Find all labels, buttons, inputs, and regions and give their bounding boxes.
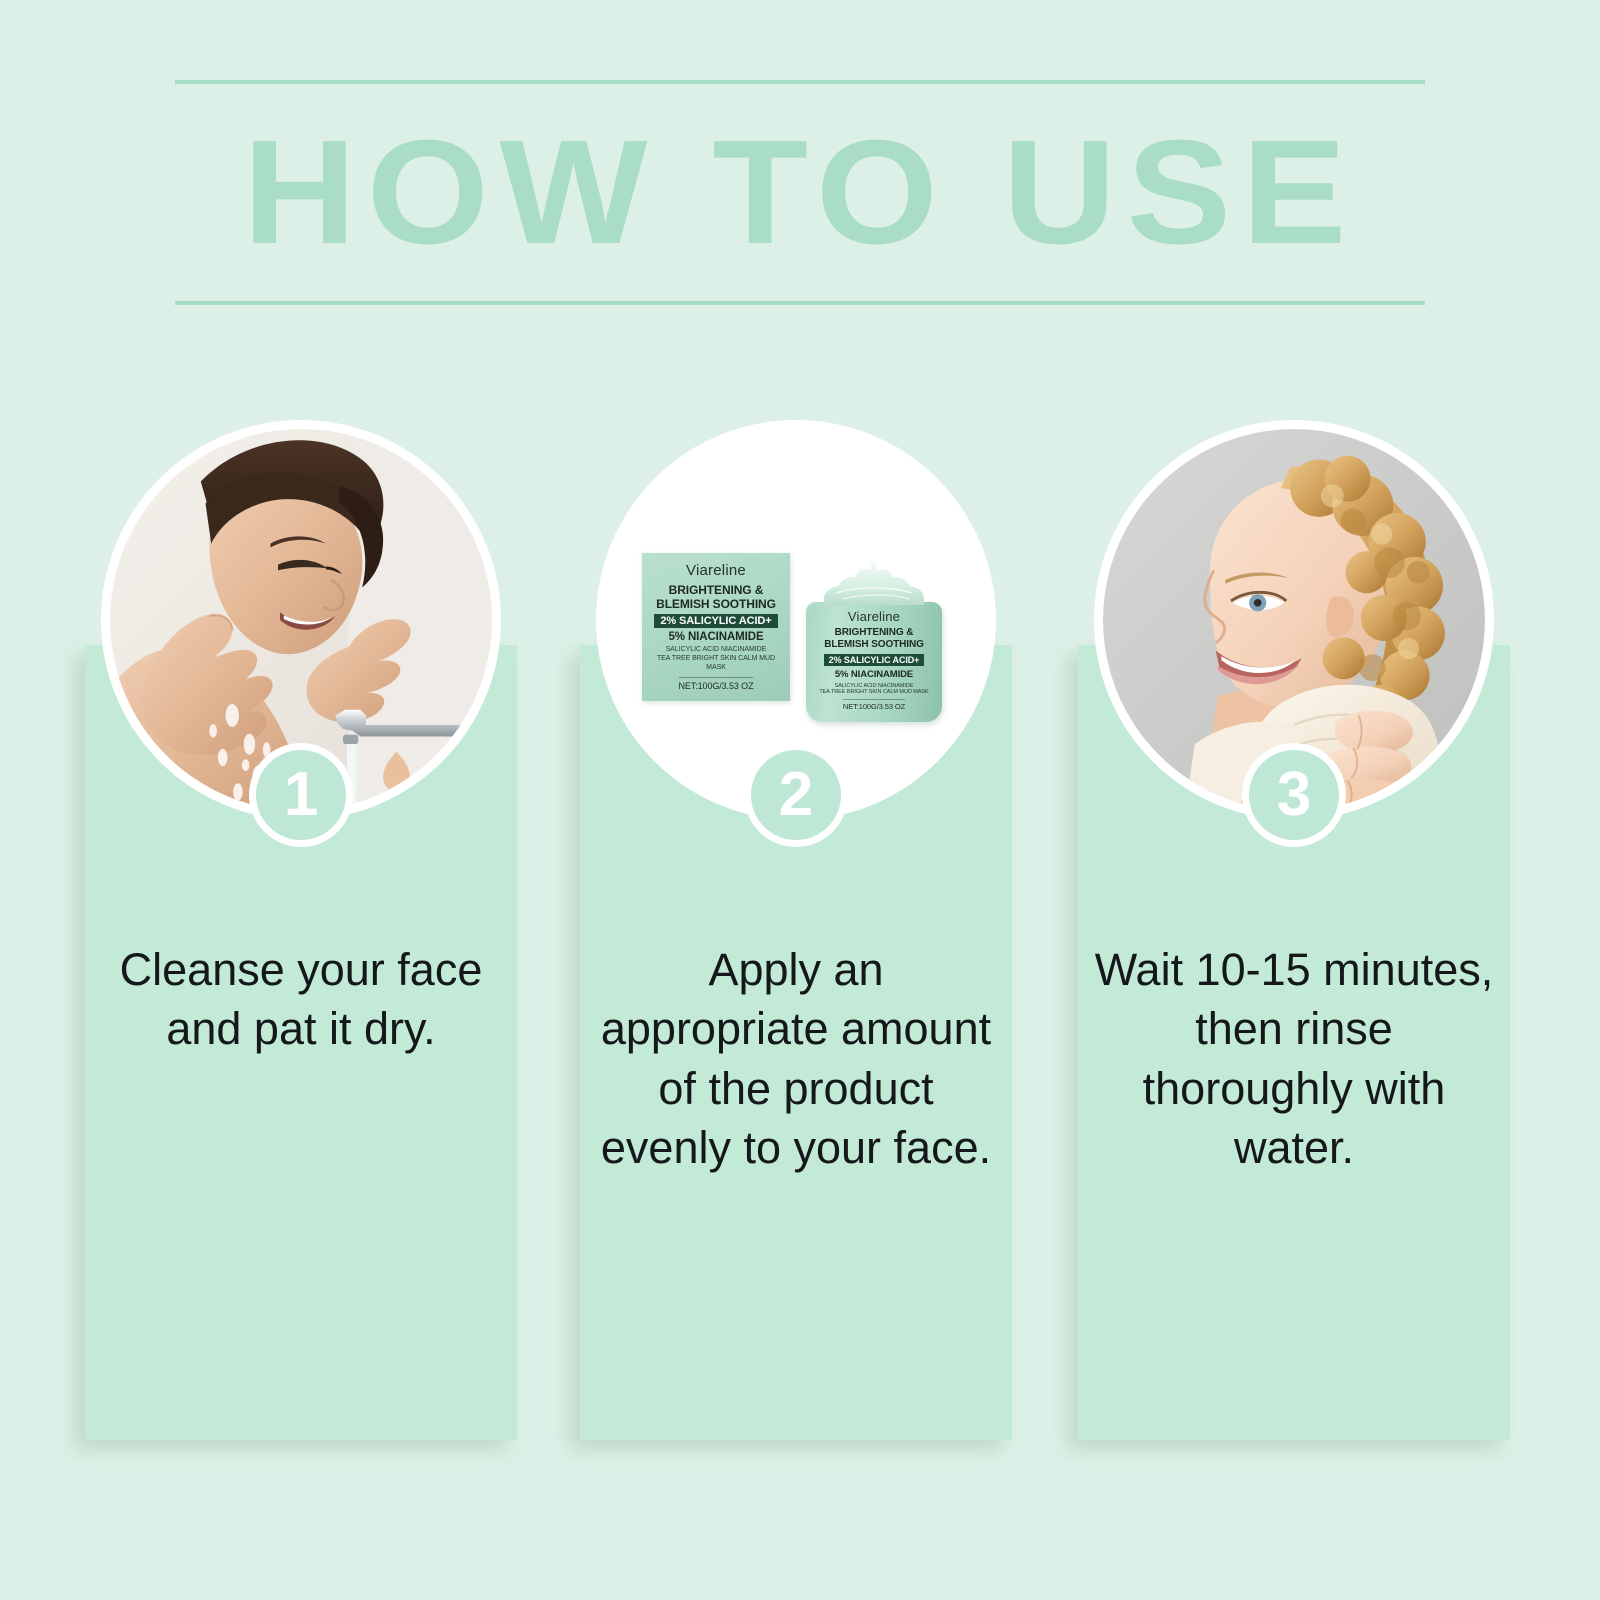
product-jar-column: Viareline BRIGHTENING & BLEMISH SOOTHING… <box>798 532 950 722</box>
step-3-number-badge: 3 <box>1242 743 1346 847</box>
step-1-caption: Cleanse your face and pat it dry. <box>99 940 503 1059</box>
product-headline-line1-jar: BRIGHTENING & <box>835 627 914 638</box>
step-card-2: Viareline BRIGHTENING & BLEMISH SOOTHING… <box>580 645 1012 1440</box>
product-subtext-line2-box: TEA TREE BRIGHT SKIN CALM MUD MASK <box>657 655 775 671</box>
steps-container: 1 Cleanse your face and pat it dry. Viar… <box>0 0 1600 1600</box>
product-headline-line2-box: BLEMISH SOOTHING <box>656 597 776 611</box>
product-brand-jar: Viareline <box>848 610 900 624</box>
product-banner-box: 2% SALICYLIC ACID+ <box>654 614 777 628</box>
step-2-caption: Apply an appropriate amount of the produ… <box>594 940 998 1178</box>
product-net-weight-jar: NET:100G/3.53 OZ <box>843 699 905 711</box>
product-subtext-box: SALICYLIC ACID NIACINAMIDE TEA TREE BRIG… <box>647 646 785 672</box>
step-card-1: 1 Cleanse your face and pat it dry. <box>85 645 517 1440</box>
product-subtext-line2-jar: TEA TREE BRIGHT SKIN CALM MUD MASK <box>819 689 928 695</box>
product-headline-line1-box: BRIGHTENING & <box>669 583 764 597</box>
product-headline-jar: BRIGHTENING & BLEMISH SOOTHING <box>824 627 924 651</box>
product-subtext-jar: SALICYLIC ACID NIACINAMIDE TEA TREE BRIG… <box>819 683 928 697</box>
product-niacinamide-box: 5% NIACINAMIDE <box>668 631 763 643</box>
step-2-number-badge: 2 <box>744 743 848 847</box>
product-jar: Viareline BRIGHTENING & BLEMISH SOOTHING… <box>806 602 942 722</box>
product-niacinamide-jar: 5% NIACINAMIDE <box>835 669 913 680</box>
step-3-caption: Wait 10-15 minutes, then rinse thoroughl… <box>1092 940 1496 1178</box>
product-subtext-line1-box: SALICYLIC ACID NIACINAMIDE <box>666 646 767 653</box>
product-subtext-line1-jar: SALICYLIC ACID NIACINAMIDE <box>835 683 914 689</box>
product-headline-line2-jar: BLEMISH SOOTHING <box>824 639 924 650</box>
product-headline-box: BRIGHTENING & BLEMISH SOOTHING <box>656 583 776 611</box>
step-1-number-badge: 1 <box>249 743 353 847</box>
product-box: Viareline BRIGHTENING & BLEMISH SOOTHING… <box>642 553 790 701</box>
product-brand-box: Viareline <box>686 563 746 580</box>
product-net-weight-box: NET:100G/3.53 OZ <box>679 677 754 691</box>
product-banner-jar: 2% SALICYLIC ACID+ <box>824 654 925 666</box>
cream-swirl <box>818 559 930 605</box>
step-card-3: 3 Wait 10-15 minutes, then rinse thoroug… <box>1078 645 1510 1440</box>
